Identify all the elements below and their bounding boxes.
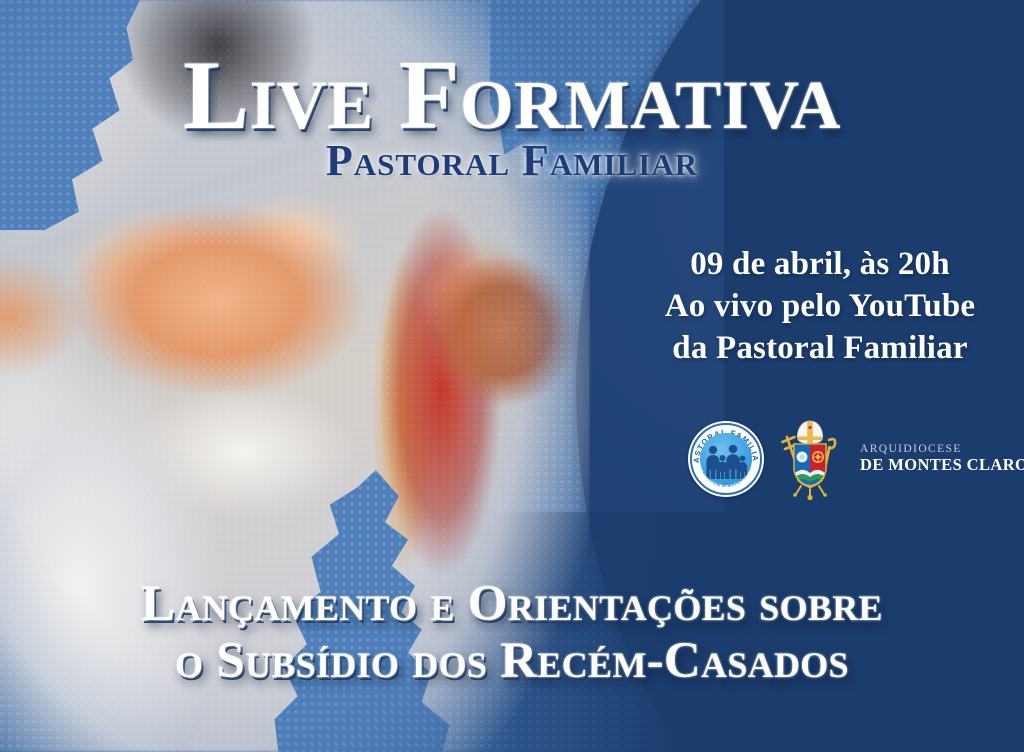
- pastoral-familiar-logo: PASTORAL FAMILIAR ARQUIDIOCESE DE MONTES…: [688, 421, 764, 497]
- archdiocese-coat-of-arms: [774, 416, 846, 502]
- archdiocese-line2: DE MONTES CLAROS: [860, 456, 1024, 474]
- event-date-time: 09 de abril, às 20h: [616, 243, 1024, 285]
- headline-line-1: Lançamento e Orientações sobre: [0, 576, 1024, 633]
- page-subtitle: Pastoral Familiar: [0, 139, 1024, 183]
- event-info-block: 09 de abril, às 20h Ao vivo pelo YouTube…: [616, 243, 1024, 370]
- event-channel: Ao vivo pelo YouTube: [616, 285, 1024, 327]
- event-headline: Lançamento e Orientações sobre o Subsídi…: [0, 576, 1024, 690]
- event-organizer: da Pastoral Familiar: [616, 327, 1024, 369]
- badge-inner-disc: [700, 433, 752, 485]
- headline-line-2: o Subsídio dos Recém-Casados: [0, 633, 1024, 690]
- archdiocese-wordmark: ARQUIDIOCESE DE MONTES CLAROS: [856, 443, 1024, 474]
- family-silhouette-icon: [700, 433, 752, 485]
- logo-strip: PASTORAL FAMILIAR ARQUIDIOCESE DE MONTES…: [688, 413, 970, 505]
- coat-of-arms-icon: [774, 416, 846, 502]
- page-title: Live Formativa: [0, 46, 1024, 145]
- poster-canvas: Live Formativa Pastoral Familiar 09 de a…: [0, 0, 1024, 752]
